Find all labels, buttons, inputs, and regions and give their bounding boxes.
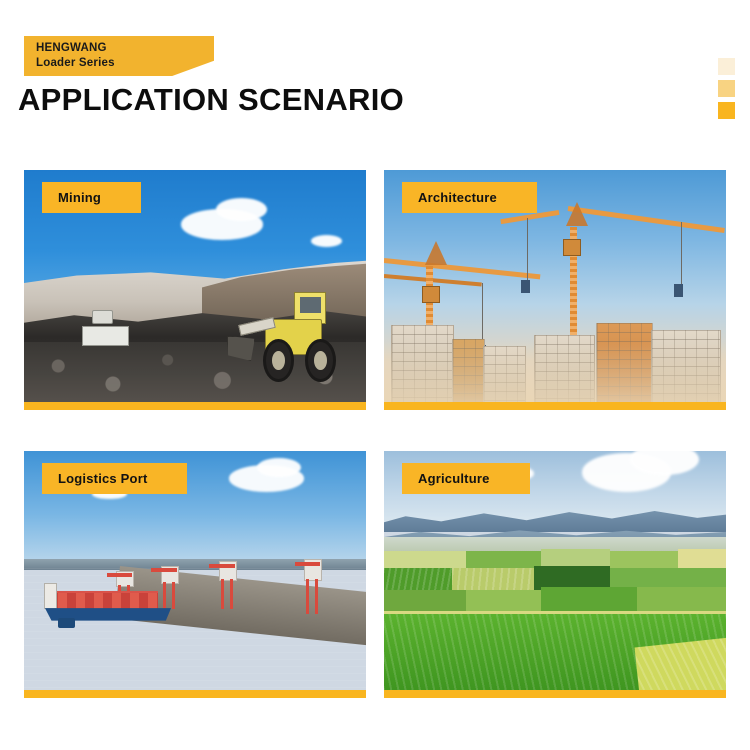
decor-square-medium-icon bbox=[718, 80, 735, 97]
scenario-card-mining[interactable]: Mining bbox=[24, 170, 366, 410]
crane-apex bbox=[566, 202, 588, 226]
gantry-boom bbox=[209, 564, 235, 568]
card-accent-bar bbox=[24, 402, 366, 410]
brand-tag-text: HENGWANG Loader Series bbox=[36, 41, 115, 71]
crane-hook bbox=[674, 284, 683, 297]
gantry-crane bbox=[219, 561, 235, 609]
stacked-containers bbox=[49, 591, 158, 608]
cloud bbox=[216, 198, 267, 221]
gantry-leg bbox=[315, 579, 318, 613]
card-label-agriculture: Agriculture bbox=[402, 463, 530, 494]
crane-apex bbox=[425, 241, 447, 265]
tug-boat bbox=[58, 618, 75, 628]
gantry-boom bbox=[295, 562, 321, 566]
card-accent-bar bbox=[24, 690, 366, 698]
crane-cable bbox=[681, 222, 682, 287]
excavator-cab bbox=[92, 310, 113, 324]
brand-tag: HENGWANG Loader Series bbox=[24, 36, 214, 76]
crane-operator-cab bbox=[422, 286, 440, 303]
scenario-card-grid: Mining bbox=[24, 170, 726, 698]
container-ship bbox=[41, 594, 171, 620]
cloud bbox=[311, 235, 342, 247]
card-label-architecture: Architecture bbox=[402, 182, 537, 213]
scenario-card-logistics-port[interactable]: Logistics Port bbox=[24, 451, 366, 698]
excavator-body bbox=[82, 326, 128, 347]
card-label-mining: Mining bbox=[42, 182, 141, 213]
card-accent-bar bbox=[384, 402, 726, 410]
crane-cable bbox=[527, 218, 528, 283]
scenario-card-architecture[interactable]: Architecture bbox=[384, 170, 726, 410]
excavator bbox=[82, 316, 126, 346]
gantry-boom bbox=[151, 568, 177, 572]
card-label-logistics-port: Logistics Port bbox=[42, 463, 187, 494]
gantry-leg bbox=[172, 582, 175, 609]
loader-wheel bbox=[305, 339, 336, 382]
gantry-boom bbox=[107, 573, 133, 577]
brand-name: HENGWANG bbox=[36, 41, 115, 56]
gantry-leg bbox=[221, 579, 224, 609]
application-scenario-page: HENGWANG Loader Series APPLICATION SCENA… bbox=[0, 0, 750, 750]
decor-squares-group bbox=[718, 58, 736, 124]
brand-series: Loader Series bbox=[36, 56, 115, 71]
wheel-loader bbox=[243, 302, 342, 379]
decor-square-light-icon bbox=[718, 58, 735, 75]
scenario-card-agriculture[interactable]: Agriculture bbox=[384, 451, 726, 698]
crane-jib bbox=[568, 206, 725, 233]
crane-operator-cab bbox=[563, 239, 581, 256]
gantry-leg bbox=[306, 579, 309, 613]
horizon-haze bbox=[384, 342, 726, 402]
ship-bridge bbox=[44, 583, 58, 609]
crane-hook bbox=[521, 280, 530, 293]
page-header: HENGWANG Loader Series APPLICATION SCENA… bbox=[0, 0, 750, 150]
loader-wheel bbox=[263, 339, 294, 382]
gantry-crane bbox=[304, 559, 320, 614]
crane-cable bbox=[482, 283, 483, 347]
decor-square-solid-icon bbox=[718, 102, 735, 119]
gantry-leg bbox=[230, 579, 233, 609]
card-accent-bar bbox=[384, 690, 726, 698]
page-title: APPLICATION SCENARIO bbox=[18, 82, 404, 118]
